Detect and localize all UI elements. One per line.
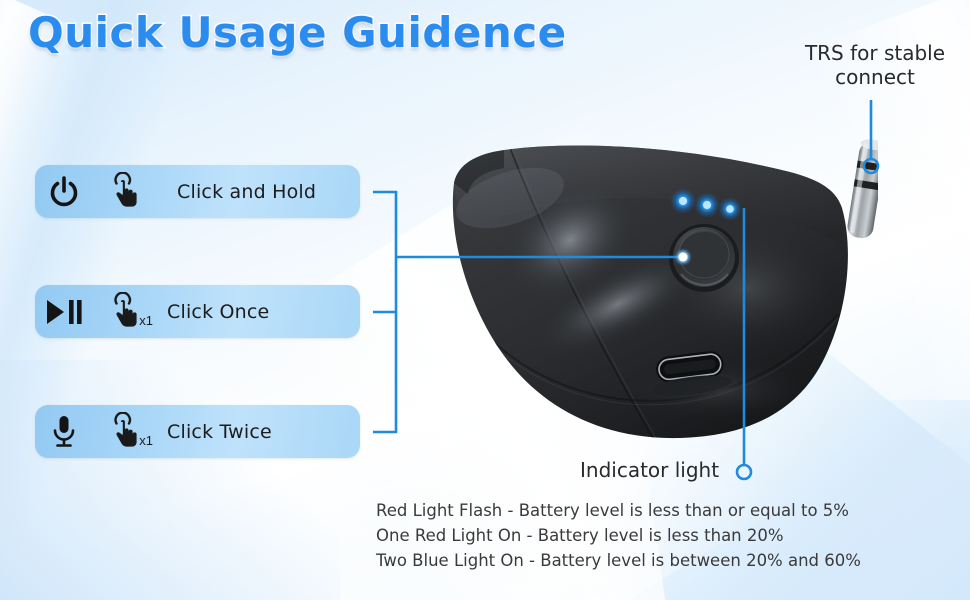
trs-callout-line-2: connect	[782, 66, 968, 90]
device-body	[418, 128, 878, 448]
multifunction-button[interactable]	[669, 224, 739, 292]
page-title: Quick Usage Guidence	[28, 8, 567, 57]
legend-line: Red Light Flash - Battery level is less …	[376, 498, 861, 523]
hand-tap-icon: x1	[93, 292, 155, 332]
instruction-label: Click and Hold	[155, 181, 316, 203]
legend-line: Two Blue Light On - Battery level is bet…	[376, 548, 861, 573]
trs-callout-label: TRS for stable connect	[782, 42, 968, 89]
device-illustration	[418, 128, 878, 448]
instruction-row-click-and-hold[interactable]: Click and Hold	[35, 165, 360, 218]
hand-tap-icon	[93, 172, 155, 212]
trs-callout-line-1: TRS for stable	[782, 42, 968, 66]
indicator-callout-label: Indicator light	[580, 458, 719, 482]
legend-line: One Red Light On - Battery level is less…	[376, 523, 861, 548]
instruction-label: Click Once	[155, 301, 269, 323]
power-icon	[35, 175, 93, 209]
instruction-row-click-once[interactable]: x1 Click Once	[35, 285, 360, 338]
hand-tap-icon: x1	[93, 412, 155, 452]
instruction-label: Click Twice	[155, 421, 272, 443]
infographic-canvas: Quick Usage Guidence	[0, 0, 970, 600]
play-pause-icon	[35, 297, 93, 327]
gesture-multiplier: x1	[139, 313, 153, 328]
microphone-icon	[35, 414, 93, 450]
battery-legend: Red Light Flash - Battery level is less …	[376, 498, 861, 573]
gesture-multiplier: x1	[139, 433, 153, 448]
instruction-row-click-twice[interactable]: x1 Click Twice	[35, 405, 360, 458]
trs-audio-jack	[846, 138, 878, 240]
background-corner-tint	[0, 360, 340, 600]
